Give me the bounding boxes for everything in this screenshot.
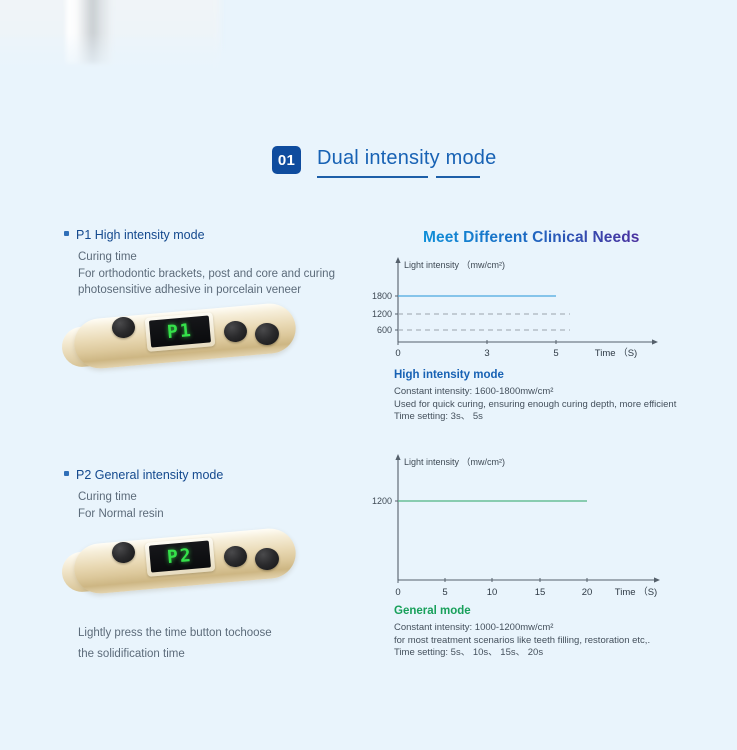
mode-p1-body-line: photosensitive adhesive in porcelain ven… — [78, 282, 384, 299]
chart-general-mode-svg: Light intensity （mw/cm²) 1200 0 5 10 15 … — [370, 452, 670, 607]
mode-p1-body-line: For orthodontic brackets, post and core … — [78, 266, 384, 283]
chart2-y-axis-label: Light intensity （mw/cm²) — [404, 457, 505, 467]
chart1-x-tick: 5 — [553, 348, 558, 359]
mode-p2-heading: P2 General intensity mode — [64, 468, 384, 482]
chart-high-intensity: Light intensity （mw/cm²) 1800 1200 600 0… — [370, 255, 670, 365]
chart2-x-axis-label: Time （S) — [615, 586, 657, 598]
footnote: Lightly press the time button tochoose t… — [64, 625, 384, 662]
device-display-value: P2 — [166, 545, 193, 568]
caption-line: Time setting: 3s、 5s — [394, 411, 676, 424]
caption-high-intensity: High intensity mode Constant intensity: … — [394, 368, 676, 424]
chart1-y-tick: 1200 — [372, 309, 392, 319]
caption-line: Used for quick curing, ensuring enough c… — [394, 399, 676, 412]
caption-line: for most treatment scenarios like teeth … — [394, 635, 650, 648]
device-screen: P2 — [145, 537, 216, 577]
mode-p1-body: Curing time For orthodontic brackets, po… — [78, 249, 384, 299]
bullet-icon — [64, 471, 69, 476]
mode-p2-heading-label: P2 General intensity mode — [76, 468, 223, 482]
title-underline — [317, 176, 496, 178]
chart2-x-tick: 10 — [487, 587, 498, 598]
caption-line: Time setting: 5s、 10s、 15s、 20s — [394, 647, 650, 660]
mode-p1-heading-label: P1 High intensity mode — [76, 228, 205, 242]
footnote-line: the solidification time — [78, 646, 384, 663]
caption-high-intensity-body: Constant intensity: 1600-1800mw/cm² Used… — [394, 386, 676, 424]
charts-section-title: Meet Different Clinical Needs — [423, 229, 640, 247]
mode-p1-heading: P1 High intensity mode — [64, 228, 384, 242]
mode-p2-body-line: For Normal resin — [78, 506, 384, 523]
chart1-y-axis-label: Light intensity （mw/cm²) — [404, 260, 505, 270]
chart1-y-tick: 1800 — [372, 291, 392, 301]
caption-general-mode-body: Constant intensity: 1000-1200mw/cm² for … — [394, 622, 650, 660]
chart-high-intensity-svg: Light intensity （mw/cm²) 1800 1200 600 0… — [370, 255, 670, 365]
device-screen: P1 — [145, 312, 216, 352]
title-underline-short — [436, 176, 480, 178]
mode-p2-text: P2 General intensity mode Curing time Fo… — [64, 468, 384, 522]
section-header-text: Dual intensity mode — [317, 146, 496, 178]
footnote-line: Lightly press the time button tochoose — [78, 625, 384, 642]
chart2-y-tick: 1200 — [372, 496, 392, 506]
page-title: Dual intensity mode — [317, 146, 496, 170]
chart1-x-tick: 3 — [484, 348, 489, 359]
mode-p1-body-line: Curing time — [78, 249, 384, 266]
chart2-x-tick: 15 — [535, 587, 546, 598]
chart1-x-axis-label: Time （S) — [595, 347, 637, 359]
footnote-body: Lightly press the time button tochoose t… — [78, 625, 384, 662]
section-header: 01 Dual intensity mode — [272, 146, 496, 178]
chart2-x-tick: 20 — [582, 587, 593, 598]
caption-general-mode: General mode Constant intensity: 1000-12… — [394, 604, 650, 660]
caption-line: Constant intensity: 1600-1800mw/cm² — [394, 386, 676, 399]
mode-p2-body: Curing time For Normal resin — [78, 489, 384, 522]
caption-general-mode-title: General mode — [394, 604, 650, 619]
device-screen-panel: P2 — [149, 540, 211, 572]
section-number-badge: 01 — [272, 146, 301, 174]
bullet-icon — [64, 231, 69, 236]
decorative-corner-graphic — [0, 0, 240, 78]
chart-general-mode: Light intensity （mw/cm²) 1200 0 5 10 15 … — [370, 452, 670, 607]
deco-fade-overlay — [0, 0, 240, 78]
device-screen-panel: P1 — [149, 315, 211, 347]
chart2-x-tick: 5 — [442, 587, 447, 598]
chart1-y-tick: 600 — [377, 325, 392, 335]
caption-line: Constant intensity: 1000-1200mw/cm² — [394, 622, 650, 635]
chart2-x-tick: 0 — [395, 587, 400, 598]
device-image-p1: P1 — [64, 303, 304, 373]
mode-p2-body-line: Curing time — [78, 489, 384, 506]
title-underline-long — [317, 176, 428, 178]
mode-p1-text: P1 High intensity mode Curing time For o… — [64, 228, 384, 299]
caption-high-intensity-title: High intensity mode — [394, 368, 676, 383]
chart1-x-tick: 0 — [395, 348, 400, 359]
device-display-value: P1 — [166, 320, 193, 343]
device-image-p2: P2 — [64, 528, 304, 598]
